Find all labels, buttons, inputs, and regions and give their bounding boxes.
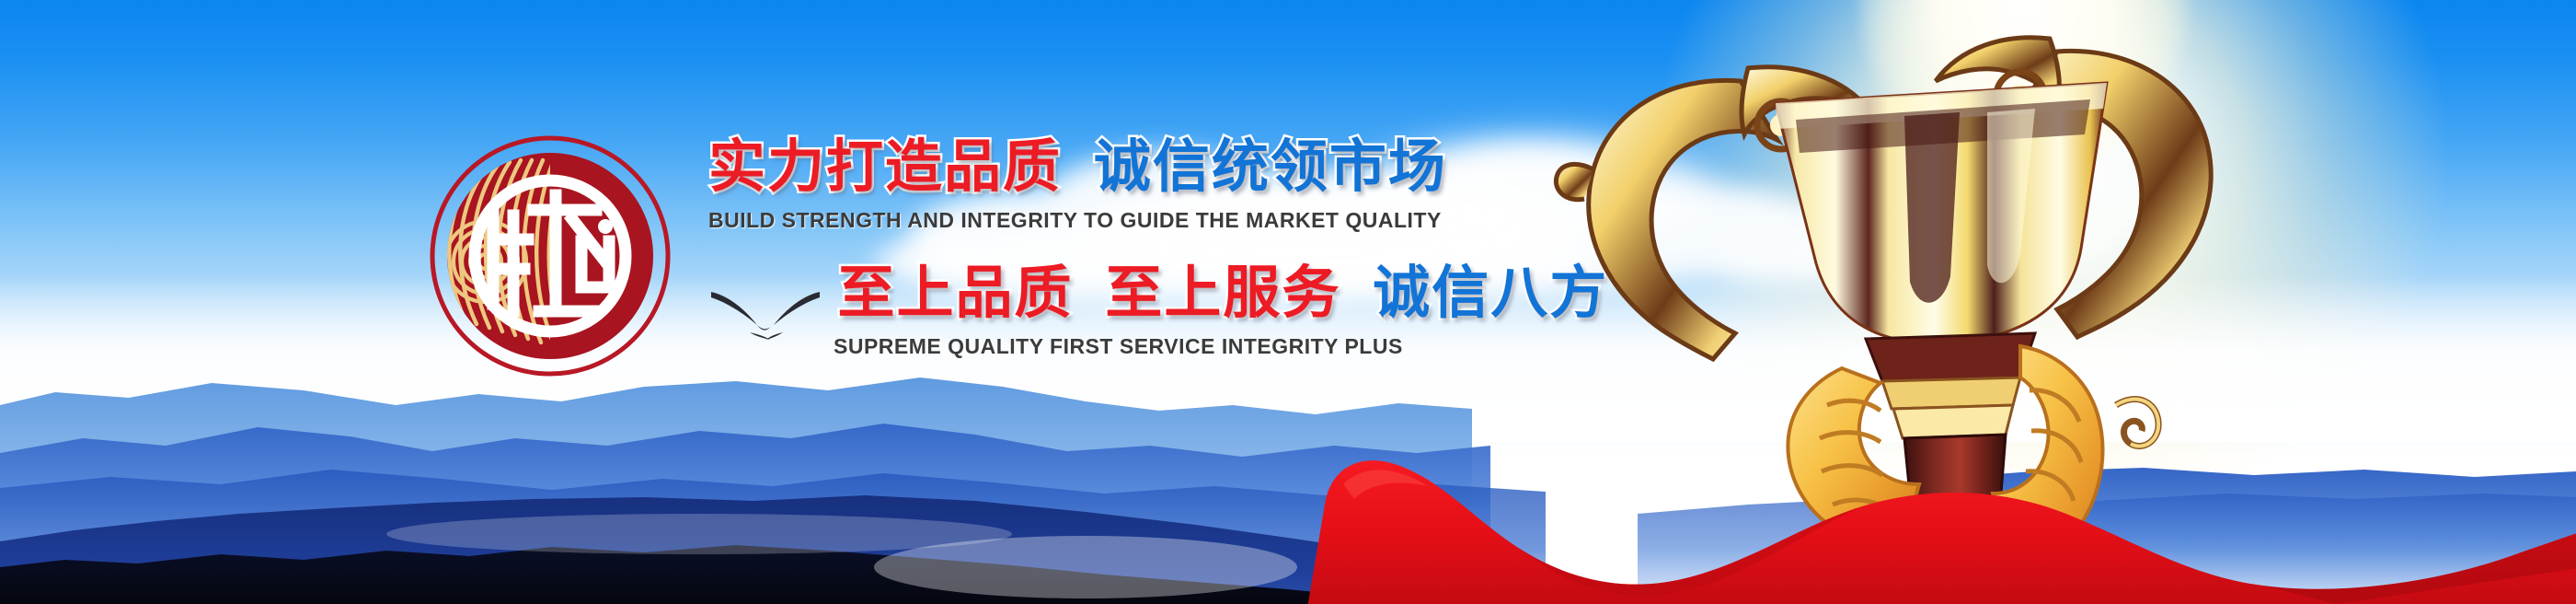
headline-line1-red: 实力打造品质 (708, 138, 1062, 195)
flying-bird-icon (706, 281, 825, 345)
promo-banner: 实力打造品质 诚信统领市场 BUILD STRENGTH AND INTEGRI… (0, 0, 2576, 604)
headline-line2-red-a: 至上品质 (837, 264, 1073, 321)
headline-line2-red-b: 至上服务 (1105, 264, 1340, 321)
red-silk-ribbon (1306, 396, 2576, 604)
seal-icon (425, 131, 675, 381)
headline-line1-blue: 诚信统领市场 (1094, 138, 1447, 195)
